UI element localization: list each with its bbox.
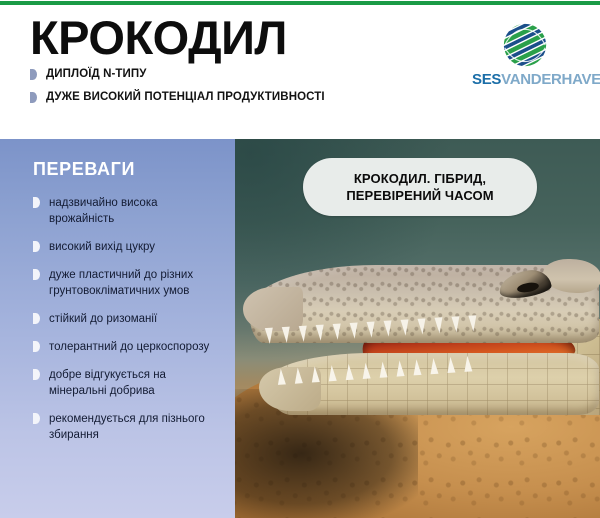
header-bullet-list: ДИПЛОЇД N-ТИПУ ДУЖЕ ВИСОКИЙ ПОТЕНЦІАЛ ПР… <box>30 67 460 113</box>
tooth <box>299 326 308 342</box>
photo-callout-line1: КРОКОДИЛ. ГІБРИД, <box>346 170 493 187</box>
advantage-label: добре відгукується на мінеральні добрива <box>49 367 213 399</box>
bullet-arrow-icon <box>30 69 37 80</box>
list-item: дуже пластичний до різних грунтовоклімат… <box>33 267 213 299</box>
tooth <box>379 361 388 378</box>
tooth <box>265 328 274 344</box>
crocodile-figure <box>243 257 600 447</box>
crocodile-head-photo: КРОКОДИЛ. ГІБРИД, ПЕРЕВІРЕНИЙ ЧАСОМ <box>235 139 600 518</box>
advantages-panel: ПЕРЕВАГИ надзвичайно висока врожайність … <box>0 139 235 518</box>
advantages-heading: ПЕРЕВАГИ <box>33 159 135 180</box>
bullet-arrow-icon <box>33 369 40 380</box>
list-item: надзвичайно висока врожайність <box>33 195 213 227</box>
tooth <box>401 319 410 335</box>
list-item: добре відгукується на мінеральні добрива <box>33 367 213 399</box>
tooth <box>367 321 376 337</box>
tooth <box>282 327 291 343</box>
bullet-arrow-icon <box>33 341 40 352</box>
photo-callout-badge: КРОКОДИЛ. ГІБРИД, ПЕРЕВІРЕНИЙ ЧАСОМ <box>303 158 537 216</box>
tooth <box>463 355 472 372</box>
advantages-list: надзвичайно висока врожайність високий в… <box>33 195 213 455</box>
logo-wordmark: SESVANDERHAVE <box>472 72 590 87</box>
tooth <box>418 318 427 334</box>
tooth <box>468 315 477 331</box>
header-bullet-label: ДУЖЕ ВИСОКИЙ ПОТЕНЦІАЛ ПРОДУКТИВНОСТІ <box>46 90 325 104</box>
bullet-arrow-icon <box>33 197 40 208</box>
tooth <box>412 359 421 376</box>
tooth <box>277 368 286 385</box>
header-bullet-label: ДИПЛОЇД N-ТИПУ <box>46 67 147 81</box>
slide-header: КРОКОДИЛ ДИПЛОЇД N-ТИПУ ДУЖЕ ВИСОКИЙ ПОТ… <box>0 5 600 139</box>
tooth <box>446 357 455 374</box>
bullet-arrow-icon <box>33 269 40 280</box>
advantage-label: стійкий до ризоманії <box>49 311 157 327</box>
tooth <box>316 325 325 341</box>
tooth <box>384 320 393 336</box>
advantage-label: високий вихід цукру <box>49 239 155 255</box>
advantage-label: дуже пластичний до різних грунтовоклімат… <box>49 267 213 299</box>
tooth <box>451 316 460 332</box>
tooth <box>311 366 320 383</box>
brand-logo: SESVANDERHAVE <box>472 22 590 102</box>
header-bullet-item: ДУЖЕ ВИСОКИЙ ПОТЕНЦІАЛ ПРОДУКТИВНОСТІ <box>30 90 460 104</box>
tooth <box>333 324 342 340</box>
slide-root: КРОКОДИЛ ДИПЛОЇД N-ТИПУ ДУЖЕ ВИСОКИЙ ПОТ… <box>0 0 600 518</box>
logo-text-ses: SES <box>472 71 501 88</box>
photo-callout-text: КРОКОДИЛ. ГІБРИД, ПЕРЕВІРЕНИЙ ЧАСОМ <box>346 170 493 204</box>
list-item: стійкий до ризоманії <box>33 311 213 327</box>
tooth <box>350 322 359 338</box>
list-item: високий вихід цукру <box>33 239 213 255</box>
tooth <box>294 367 303 384</box>
photo-callout-line2: ПЕРЕВІРЕНИЙ ЧАСОМ <box>346 187 493 204</box>
list-item: толерантний до церкоспорозу <box>33 339 213 355</box>
tooth <box>395 360 404 377</box>
tooth <box>345 364 354 381</box>
bullet-arrow-icon <box>33 413 40 424</box>
tooth <box>429 358 438 375</box>
bullet-arrow-icon <box>30 92 37 103</box>
page-title: КРОКОДИЛ <box>30 14 287 61</box>
tooth <box>328 365 337 382</box>
advantage-label: надзвичайно висока врожайність <box>49 195 213 227</box>
advantage-label: рекомендується для пізнього збирання <box>49 411 213 443</box>
header-bullet-item: ДИПЛОЇД N-ТИПУ <box>30 67 460 81</box>
globe-striped-icon <box>502 22 548 68</box>
slide-body: ПЕРЕВАГИ надзвичайно висока врожайність … <box>0 139 600 518</box>
crocodile-snout-tip <box>243 287 303 331</box>
tooth <box>434 317 443 333</box>
tooth <box>362 362 371 379</box>
list-item: рекомендується для пізнього збирання <box>33 411 213 443</box>
logo-text-vanderhave: VANDERHAVE <box>501 71 600 88</box>
advantage-label: толерантний до церкоспорозу <box>49 339 209 355</box>
bullet-arrow-icon <box>33 313 40 324</box>
bullet-arrow-icon <box>33 241 40 252</box>
